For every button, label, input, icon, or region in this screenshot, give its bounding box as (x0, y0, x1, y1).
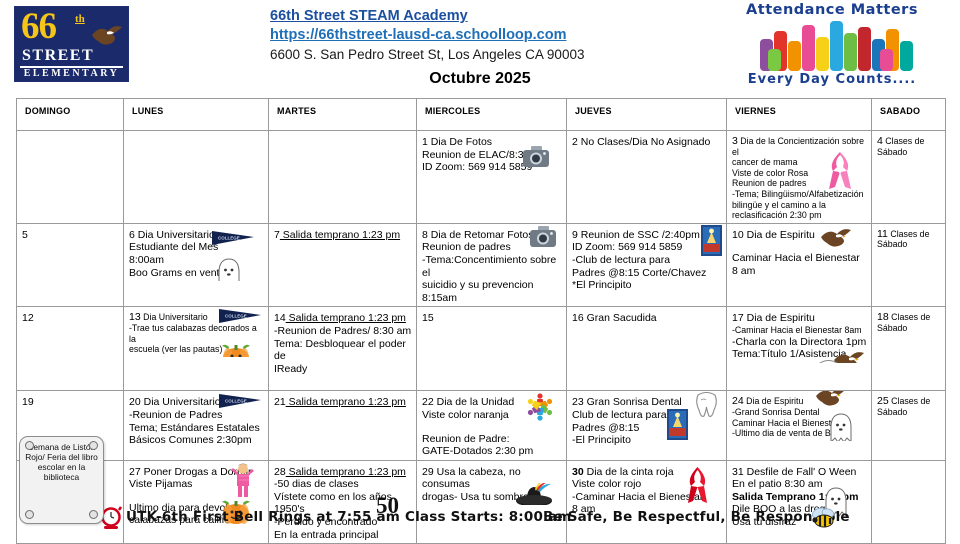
day-cell-content: 18 Clases deSábado (872, 307, 945, 335)
day-title: Reunion de SSC /2:40pm (578, 229, 700, 241)
day-cell-content: 5 (17, 224, 123, 244)
day-number: 23 (572, 396, 584, 408)
callout-pin-bottom-right (89, 510, 98, 519)
day-header-line: 8 Dia de Retomar Fotos (422, 229, 562, 242)
day-detail-line: -Reunion de Padres/ 8:30 am (274, 325, 412, 338)
day-number: 14 (274, 312, 286, 324)
day-number: 16 (572, 312, 584, 324)
attendance-matters-banner: Attendance Matters (716, 2, 948, 94)
day-header-line: 2 No Clases/Dia No Asignado (572, 136, 722, 149)
logo-number: 66 (21, 8, 56, 46)
day-detail-line: bilingüe y el camino a la (732, 200, 867, 211)
day-number: 11 (877, 228, 888, 240)
day-detail-line: -Trae tus calabazas decorados a la (129, 323, 264, 344)
school-url-link[interactable]: https://66thstreet-lausd-ca.schoolloop.c… (270, 26, 584, 45)
day-cell-content (872, 461, 945, 468)
day-number: 31 (732, 466, 744, 478)
day-title: Salida temprano 1:23 pm (286, 466, 406, 478)
day-detail-line: Padres @8:15 Corte/Chavez (572, 267, 722, 280)
day-number: 20 (129, 396, 141, 408)
calendar-day-cell-27[interactable]: 27 Poner Drogas a DormirViste PijamasUlt… (124, 460, 269, 544)
day-cell-content: 22 Dia de la UnidadViste color naranjaRe… (417, 391, 566, 459)
spacer (129, 491, 264, 502)
colored-hands-icon (716, 19, 948, 71)
day-detail-line: -Caminar Hacia el Bienestar 8am (732, 325, 867, 336)
day-title: Dia de Retomar Fotos (428, 229, 534, 241)
day-detail-line: Reunion de Padre: (422, 433, 562, 446)
calendar-day-cell-6[interactable]: 6 Dia UniversitarioEstudiante del Mes8:0… (124, 223, 269, 307)
attendance-bottom-text: Every Day Counts.... (716, 72, 948, 87)
logo-street-text: STREET (22, 47, 94, 65)
day-detail-line: calabazas para calificar (129, 514, 264, 527)
day-cell-content: 4 Clases deSábado (872, 131, 945, 159)
day-title: Dia Universitario (135, 229, 215, 241)
callout-pin-top-right (89, 441, 98, 450)
calendar-day-cell-14[interactable]: 14 Salida temprano 1:23 pm-Reunion de Pa… (269, 307, 417, 391)
day-detail-line: IReady (274, 363, 412, 376)
school-info-block: 66th Street STEAM Academy https://66thst… (270, 7, 584, 64)
day-cell-content: 12 (17, 307, 123, 327)
day-number: 28 (274, 466, 286, 478)
day-header-line: 31 Desfile de Fall' O Ween (732, 466, 867, 479)
day-title: Clases de (889, 396, 931, 406)
day-detail-line: Sábado (877, 407, 941, 418)
day-number: 19 (22, 396, 34, 408)
calendar-day-cell-empty[interactable] (872, 460, 946, 544)
logo-elementary-text: ELEMENTARY (20, 66, 123, 79)
weekday-header-miercoles: MIERCOLES (417, 99, 567, 131)
calendar-day-cell-15[interactable]: 15 (417, 307, 567, 391)
day-cell-content: 7 Salida temprano 1:23 pm (269, 224, 416, 244)
day-detail-line: -Charla con la Directora 1pm (732, 336, 867, 349)
weekday-header-lunes: LUNES (124, 99, 269, 131)
callout-pin-bottom-left (25, 510, 34, 519)
day-title: Desfile de Fall' O Ween (744, 466, 857, 478)
day-header-line: 9 Reunion de SSC /2:40pm (572, 229, 722, 242)
calendar-day-cell-17[interactable]: 17 Dia de Espiritu-Caminar Hacia el Bien… (727, 307, 872, 391)
day-detail-line: Tema:Título 1/Asistencia (732, 348, 867, 361)
day-cell-content: 20 Dia Universitario-Reunion de PadresTe… (124, 391, 268, 448)
weekday-header-row: DOMINGO LUNES MARTES MIERCOLES JUEVES VI… (17, 99, 946, 131)
day-detail-line: 8 am (732, 265, 867, 278)
day-header-line: 10 Dia de Espiritu (732, 229, 867, 242)
day-cell-content: 25 Clases deSábado (872, 391, 945, 419)
calendar-day-cell-9[interactable]: 9 Reunion de SSC /2:40pmID Zoom: 569 914… (567, 223, 727, 307)
page-header: 66 th STREET ELEMENTARY 66th Street STEA… (0, 0, 960, 97)
day-detail-line: En la entrada principal (274, 529, 412, 542)
day-detail-line: -Perdido y encontrado (274, 516, 412, 529)
calendar-day-cell-7[interactable]: 7 Salida temprano 1:23 pm (269, 223, 417, 307)
calendar-day-cell-24[interactable]: 24 Dia de Espiritu-Grand Sonrisa DentalC… (727, 391, 872, 460)
calendar-day-cell-empty[interactable] (124, 131, 269, 224)
day-cell-content: 2 No Clases/Dia No Asignado (567, 131, 726, 151)
day-title: Dia Universitario (141, 312, 208, 322)
day-title: Dia de Espiritu (744, 312, 815, 324)
day-detail-line: Reunion de padres (422, 241, 562, 254)
day-header-line: 4 Clases de (877, 136, 941, 147)
calendar-day-cell-12[interactable]: 12 (17, 307, 124, 391)
day-cell-content: 29 Usa la cabeza, no consumasdrogas- Usa… (417, 461, 566, 506)
day-header-line: 22 Dia de la Unidad (422, 396, 562, 409)
calendar-day-cell-28[interactable]: 28 Salida temprano 1:23 pm-50 dias de cl… (269, 460, 417, 544)
day-detail-line: Salida Temprano 1:48 pm (732, 491, 867, 504)
day-cell-content: 10 Dia de EspirituCaminar Hacia el Biene… (727, 224, 871, 280)
day-detail-line: Reunion de ELAC/8:30am (422, 149, 562, 162)
day-number: 12 (22, 312, 34, 324)
day-title: Clases de (883, 136, 925, 146)
school-logo: 66 th STREET ELEMENTARY (14, 6, 129, 82)
calendar-day-cell-11[interactable]: 11 Clases deSábado (872, 223, 946, 307)
day-detail-line: Caminar Hacia el Bienestar (732, 252, 867, 265)
day-header-line: 12 (22, 312, 119, 325)
day-detail-line: Vístete como en los años 1950's (274, 491, 412, 516)
weekday-header-domingo: DOMINGO (17, 99, 124, 131)
day-title: Clases de (889, 312, 931, 322)
day-title: Dia De Fotos (428, 136, 492, 148)
day-number: 21 (274, 396, 286, 408)
day-title: Dia de la Unidad (434, 396, 515, 408)
day-detail-line: Sábado (877, 147, 941, 158)
day-detail-line: ID Zoom: 569 914 5859 (422, 161, 562, 174)
day-detail-line: -Ultimo dia de venta de Boo G (732, 428, 867, 439)
day-cell-content: 3 Dia de la Concientización sobre elcanc… (727, 131, 871, 223)
day-number: 30 (572, 466, 584, 478)
day-cell-content: 21 Salida temprano 1:23 pm (269, 391, 416, 411)
calendar-day-cell-23[interactable]: 23 Gran Sonrisa DentalClub de lectura pa… (567, 391, 727, 460)
day-header-line: 16 Gran Sacudida (572, 312, 722, 325)
day-detail-line: Viste Pijamas (129, 478, 264, 491)
day-cell-content: 14 Salida temprano 1:23 pm-Reunion de Pa… (269, 307, 416, 377)
day-detail-line: Tema; Estándares Estatales (129, 422, 264, 435)
logo-ordinal: th (75, 13, 85, 25)
weekday-header-jueves: JUEVES (567, 99, 727, 131)
day-title: Usa la cabeza, no consumas (422, 466, 521, 491)
calendar-day-cell-18[interactable]: 18 Clases deSábado (872, 307, 946, 391)
day-number: 27 (129, 466, 141, 478)
day-detail-line: -Grand Sonrisa Dental (732, 407, 867, 418)
calendar-day-cell-5[interactable]: 5 (17, 223, 124, 307)
day-detail-line: Ultimo dia para devolver (129, 502, 264, 515)
day-detail-line: Dile BOO a las drogas (732, 503, 867, 516)
day-header-line: 1 Dia De Fotos (422, 136, 562, 149)
day-detail-line: Club de lectura para (572, 409, 722, 422)
day-title: Salida temprano 1:23 pm (280, 229, 400, 241)
school-address: 6600 S. San Pedro Street St, Los Angeles… (270, 45, 584, 64)
spacer (732, 241, 867, 252)
day-number: 24 (732, 395, 744, 407)
day-header-line: 17 Dia de Espiritu (732, 312, 867, 325)
day-header-line: 14 Salida temprano 1:23 pm (274, 312, 412, 325)
day-detail-line: 8:00am (129, 254, 264, 267)
calendar-day-cell-2[interactable]: 2 No Clases/Dia No Asignado (567, 131, 727, 224)
day-cell-content (17, 131, 123, 138)
day-detail-line: Caminar Hacia el Bienestar 8 (732, 418, 867, 429)
day-header-line: 23 Gran Sonrisa Dental (572, 396, 722, 409)
callout-pin-top-left (25, 441, 34, 450)
day-header-line: 11 Clases de (877, 229, 941, 240)
attendance-top-text: Attendance Matters (716, 2, 948, 18)
day-detail-line: reclasificación 2:30 pm (732, 210, 867, 221)
day-number: 22 (422, 396, 434, 408)
day-detail-line: Boo Grams en venta $1 (129, 267, 264, 280)
calendar-day-cell-21[interactable]: 21 Salida temprano 1:23 pm (269, 391, 417, 460)
day-number: 17 (732, 312, 744, 324)
calendar-day-cell-empty[interactable] (17, 131, 124, 224)
day-cell-content: 28 Salida temprano 1:23 pm-50 dias de cl… (269, 461, 416, 544)
day-detail-line: Estudiante del Mes (129, 241, 264, 254)
weekday-header-sabado: SABADO (872, 99, 946, 131)
day-cell-content: 31 Desfile de Fall' O WeenEn el patio 8:… (727, 461, 871, 531)
day-title: No Clases/Dia No Asignado (578, 136, 711, 148)
day-title: Poner Drogas a Dormir (141, 466, 252, 478)
calendar-day-cell-16[interactable]: 16 Gran Sacudida (567, 307, 727, 391)
day-detail-line: -Tema; Bilingüismo/Alfabetización (732, 189, 867, 200)
day-header-line: 25 Clases de (877, 396, 941, 407)
calendar-day-cell-4[interactable]: 4 Clases deSábado (872, 131, 946, 224)
day-number: 15 (422, 312, 434, 324)
day-detail-line: Sábado (877, 323, 941, 334)
day-detail-line: Reunion de padres (732, 178, 867, 189)
day-detail-line: 8:15am (422, 292, 562, 305)
day-header-line: 15 (422, 312, 562, 325)
day-detail-line: drogas- Usa tu sombrero (422, 491, 562, 504)
day-title: Clases de (888, 229, 930, 239)
month-title: Octubre 2025 (270, 70, 690, 88)
calendar-week-row: 2627 Poner Drogas a DormirViste PijamasU… (17, 460, 946, 544)
day-cell-content (269, 131, 416, 138)
day-cell-content: 15 (417, 307, 566, 327)
day-header-line: 24 Dia de Espiritu (732, 396, 867, 407)
day-detail-line: *El Principito (572, 279, 722, 292)
day-cell-content (124, 131, 268, 138)
calendar-day-cell-25[interactable]: 25 Clases deSábado (872, 391, 946, 460)
day-header-line: 3 Dia de la Concientización sobre el (732, 136, 867, 157)
calendar-day-cell-29[interactable]: 29 Usa la cabeza, no consumasdrogas- Usa… (417, 460, 567, 544)
day-number: 13 (129, 311, 141, 323)
day-title: Dia de la cinta roja (584, 466, 674, 478)
calendar-week-row: 56 Dia UniversitarioEstudiante del Mes8:… (17, 223, 946, 307)
day-detail-line: -Caminar Hacia el Bienestar (572, 491, 722, 504)
calendar-day-cell-20[interactable]: 20 Dia Universitario-Reunion de PadresTe… (124, 391, 269, 460)
day-cell-content: 23 Gran Sonrisa DentalClub de lectura pa… (567, 391, 726, 448)
day-detail-line: Usa tu disfraz (732, 516, 867, 529)
day-cell-content: 6 Dia UniversitarioEstudiante del Mes8:0… (124, 224, 268, 281)
day-header-line: 21 Salida temprano 1:23 pm (274, 396, 412, 409)
day-number: 10 (732, 229, 744, 241)
day-title: Dia de Espiritu (744, 396, 804, 406)
day-header-line: 29 Usa la cabeza, no consumas (422, 466, 562, 491)
day-header-line: 30 Dia de la cinta roja (572, 466, 722, 479)
calendar-day-cell-30[interactable]: 30 Dia de la cinta rojaViste color rojo-… (567, 460, 727, 544)
calendar-day-cell-22[interactable]: 22 Dia de la UnidadViste color naranjaRe… (417, 391, 567, 460)
eagle-icon (90, 21, 124, 57)
day-cell-content: 16 Gran Sacudida (567, 307, 726, 327)
day-detail-line: -50 dias de clases (274, 478, 412, 491)
day-detail-line: Padres @8:15 (572, 422, 722, 435)
day-cell-content: 27 Poner Drogas a DormirViste PijamasUlt… (124, 461, 268, 529)
day-header-line: 18 Clases de (877, 312, 941, 323)
day-detail-line: Básicos Comunes 2:30pm (129, 434, 264, 447)
day-header-line: 19 (22, 396, 119, 409)
calendar-week-row: 1213 Dia Universitario-Trae tus calabaza… (17, 307, 946, 391)
calendar-day-cell-31[interactable]: 31 Desfile de Fall' O WeenEn el patio 8:… (727, 460, 872, 544)
day-header-line: 13 Dia Universitario (129, 312, 264, 323)
calendar-week-row: 1920 Dia Universitario-Reunion de Padres… (17, 391, 946, 460)
day-cell-content: 8 Dia de Retomar FotosReunion de padres-… (417, 224, 566, 307)
day-detail-line: -El Principito (572, 434, 722, 447)
day-header-line: 7 Salida temprano 1:23 pm (274, 229, 412, 242)
day-detail-line: cancer de mama (732, 157, 867, 168)
day-detail-line: Tema: Desbloquear el poder de (274, 338, 412, 363)
calendar-day-cell-empty[interactable] (269, 131, 417, 224)
day-cell-content: 19 (17, 391, 123, 411)
day-number: 5 (22, 229, 28, 241)
day-header-line: 6 Dia Universitario (129, 229, 264, 242)
day-title: Gran Sacudida (584, 312, 657, 324)
day-detail-line: Sábado (877, 239, 941, 250)
calendar-table: DOMINGO LUNES MARTES MIERCOLES JUEVES VI… (16, 98, 946, 544)
day-detail-line: En el patio 8:30 am (732, 478, 867, 491)
calendar-day-cell-1[interactable]: 1 Dia De FotosReunion de ELAC/8:30amID Z… (417, 131, 567, 224)
day-number: 25 (877, 395, 889, 407)
day-detail-line: ID Zoom: 569 914 5859 (572, 241, 722, 254)
day-title: Salida temprano 1:23 pm (286, 312, 406, 324)
day-cell-content: 11 Clases deSábado (872, 224, 945, 252)
day-detail-line: -Tema:Concentimiento sobre el (422, 254, 562, 279)
day-cell-content: 1 Dia De FotosReunion de ELAC/8:30amID Z… (417, 131, 566, 176)
day-detail-line: -Reunion de Padres (129, 409, 264, 422)
day-header-line: 28 Salida temprano 1:23 pm (274, 466, 412, 479)
weekday-header-martes: MARTES (269, 99, 417, 131)
day-number: 29 (422, 466, 434, 478)
spacer (422, 422, 562, 433)
day-title: Salida temprano 1:23 pm (286, 396, 406, 408)
calendar-day-cell-13[interactable]: 13 Dia Universitario-Trae tus calabazas … (124, 307, 269, 391)
day-cell-content: 30 Dia de la cinta rojaViste color rojo-… (567, 461, 726, 518)
red-ribbon-week-callout[interactable]: Semana de Listón Rojo/ Feria del libro e… (19, 436, 104, 524)
day-cell-content: 9 Reunion de SSC /2:40pmID Zoom: 569 914… (567, 224, 726, 294)
calendar-day-cell-8[interactable]: 8 Dia de Retomar FotosReunion de padres-… (417, 223, 567, 307)
day-detail-line: -Club de lectura para (572, 254, 722, 267)
calendar-week-row: 1 Dia De FotosReunion de ELAC/8:30amID Z… (17, 131, 946, 224)
day-detail-line: 8 am (572, 503, 722, 516)
day-detail-line: Viste de color Rosa (732, 168, 867, 179)
day-detail-line: escuela (ver las pautas) (129, 344, 264, 355)
day-detail-line: suicidio y su prevencion (422, 279, 562, 292)
day-detail-line: Viste color rojo (572, 478, 722, 491)
weekday-header-viernes: VIERNES (727, 99, 872, 131)
day-header-line: 27 Poner Drogas a Dormir (129, 466, 264, 479)
day-cell-content: 17 Dia de Espiritu-Caminar Hacia el Bien… (727, 307, 871, 362)
day-detail-line: Viste color naranja (422, 409, 562, 422)
day-title: Dia de la Concientización sobre el (732, 136, 864, 157)
day-number: 18 (877, 311, 889, 323)
day-cell-content: 13 Dia Universitario-Trae tus calabazas … (124, 307, 268, 356)
day-title: Dia de Espiritu (744, 229, 815, 241)
day-detail-line: GATE-Dotados 2:30 pm (422, 445, 562, 458)
calendar-day-cell-3[interactable]: 3 Dia de la Concientización sobre elcanc… (727, 131, 872, 224)
school-name-link[interactable]: 66th Street STEAM Academy (270, 7, 584, 26)
calendar-day-cell-10[interactable]: 10 Dia de EspirituCaminar Hacia el Biene… (727, 223, 872, 307)
day-cell-content: 24 Dia de Espiritu-Grand Sonrisa DentalC… (727, 391, 871, 440)
day-header-line: 20 Dia Universitario (129, 396, 264, 409)
day-title: Gran Sonrisa Dental (584, 396, 682, 408)
day-header-line: 5 (22, 229, 119, 242)
day-title: Dia Universitario (141, 396, 221, 408)
